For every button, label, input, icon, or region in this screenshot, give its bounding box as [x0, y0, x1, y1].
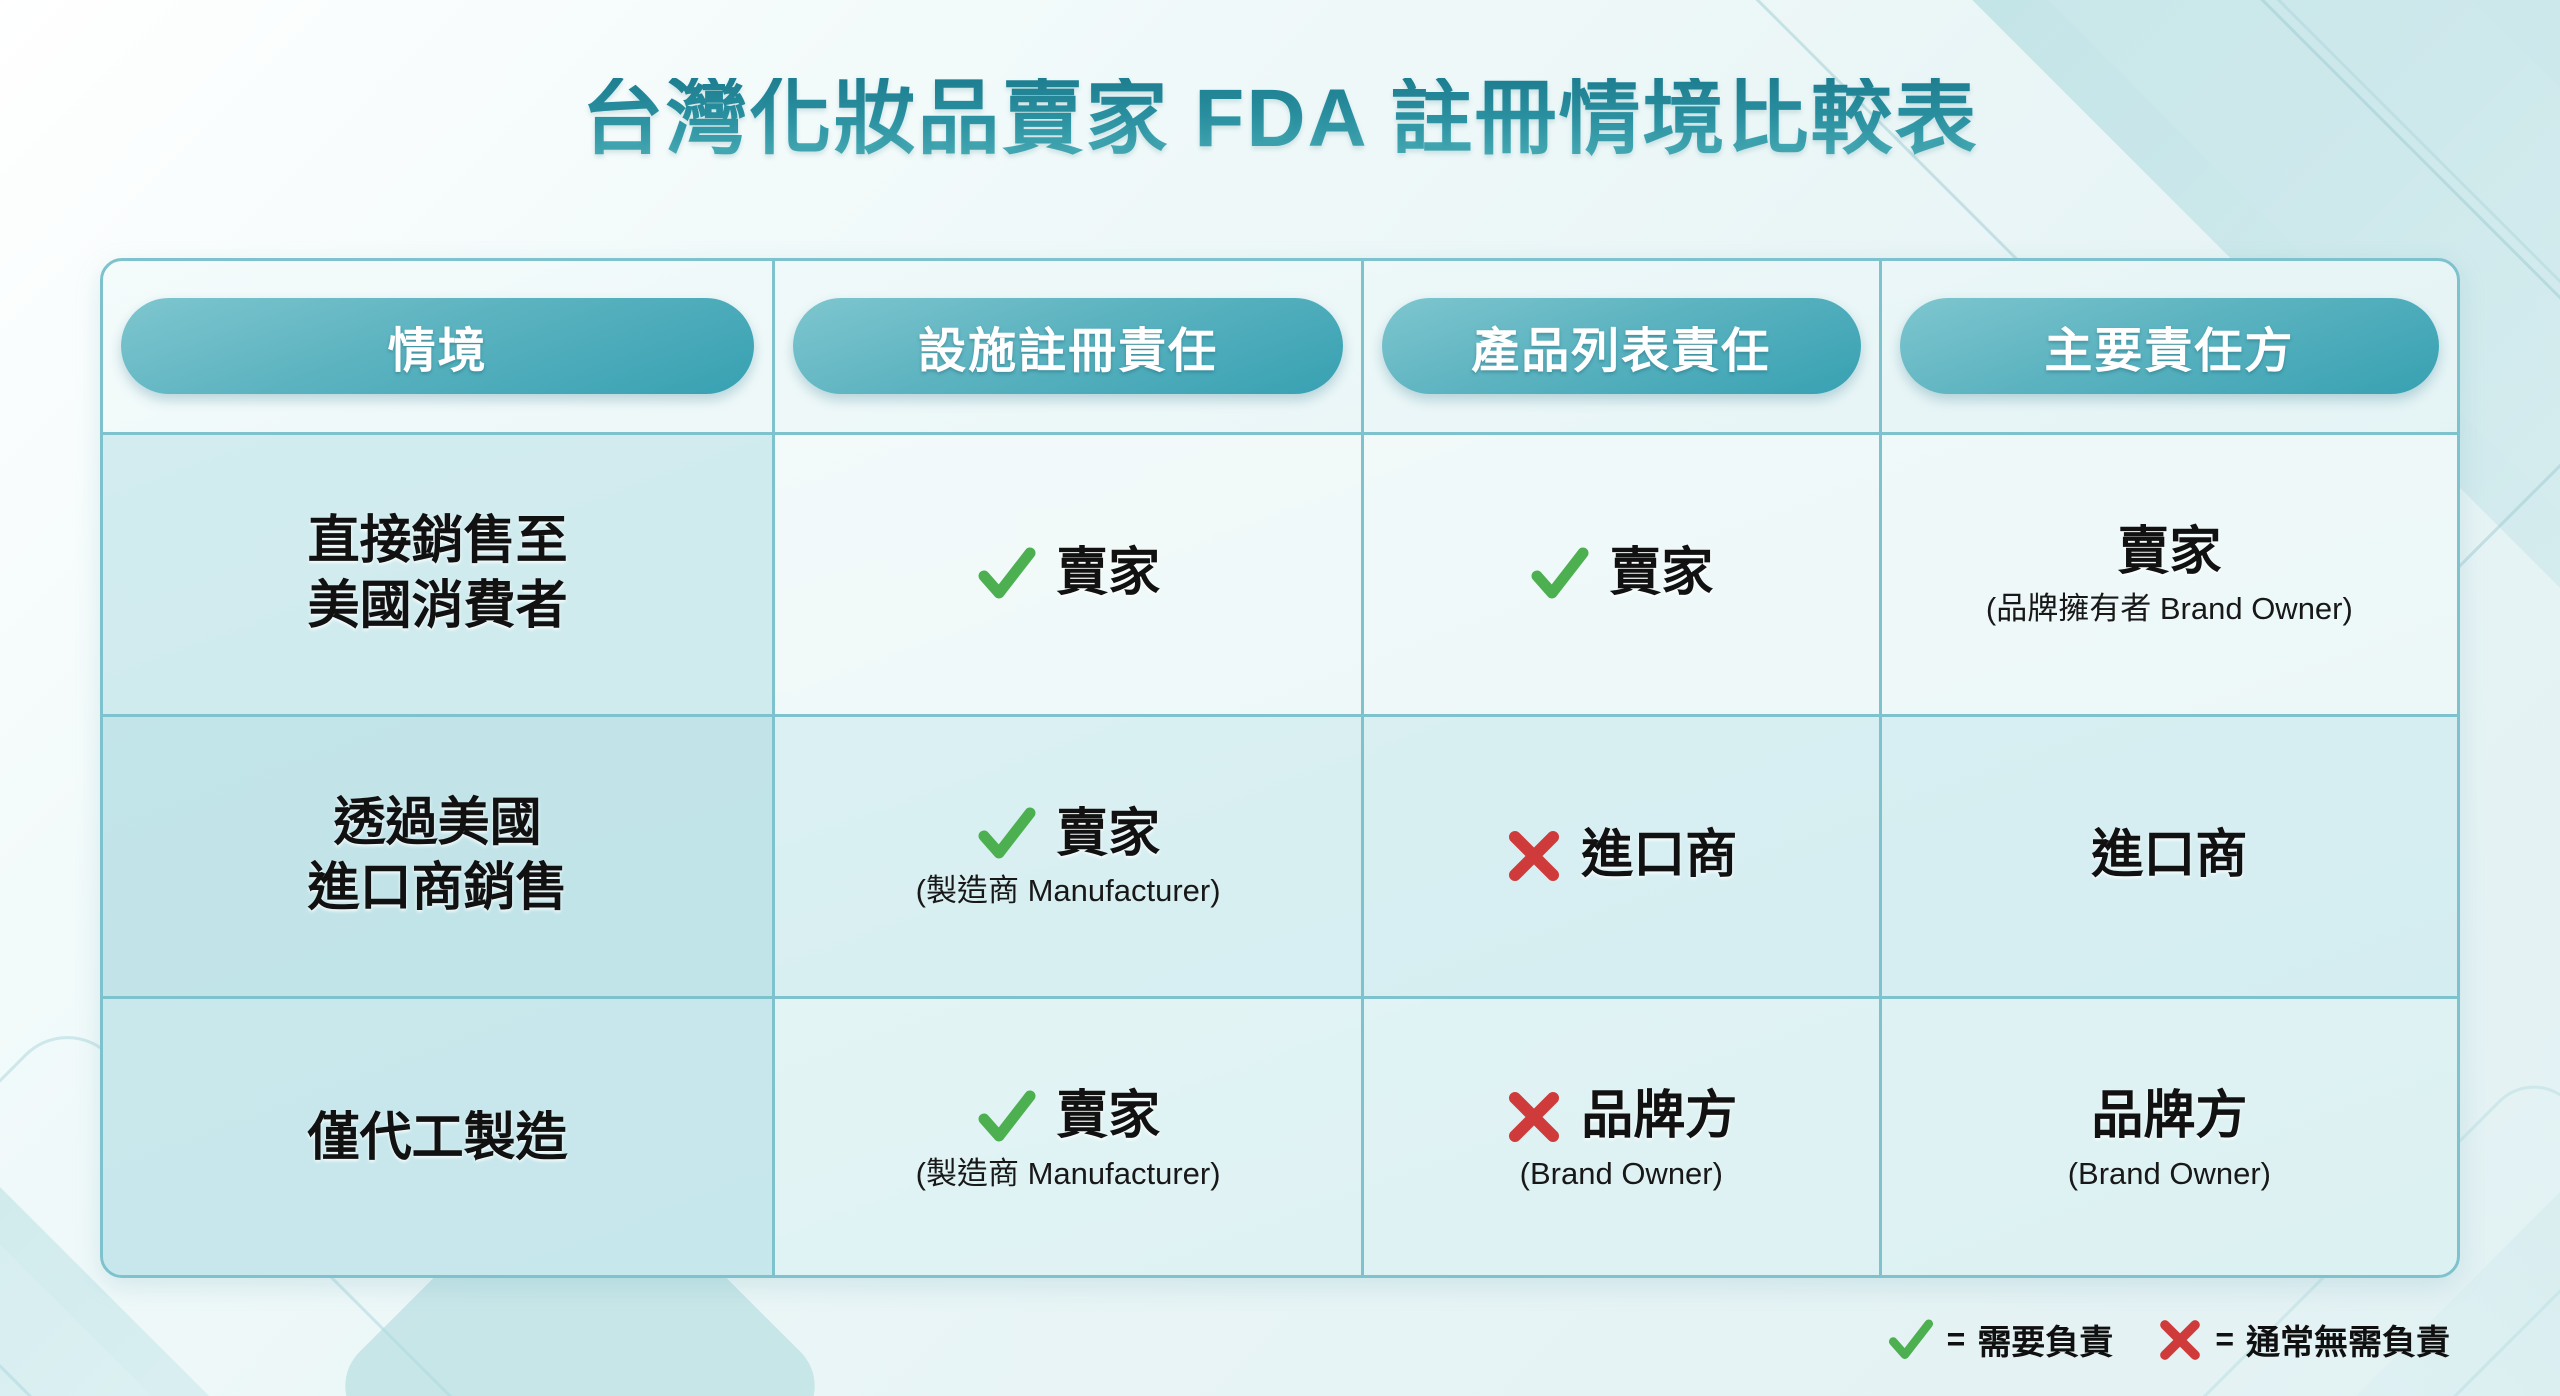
cell-listing-3: 品牌方 (Brand Owner): [1362, 997, 1880, 1278]
check-icon: [976, 543, 1038, 605]
legend-label-check: 需要負責: [1977, 1315, 2113, 1364]
header-pill-facility-registration: 設施註冊責任: [793, 298, 1343, 394]
listing-value-3: 品牌方: [1581, 1085, 1737, 1148]
facility-subtext-2: (製造商 Manufacturer): [791, 872, 1345, 909]
scenario-text-3: 僅代工製造: [119, 1107, 756, 1170]
scenario-line-2b: 進口商銷售: [119, 856, 756, 921]
table-row: 透過美國 進口商銷售 賣家 (: [103, 715, 2457, 997]
legend-equals-check: =: [1947, 1321, 1966, 1358]
cell-listing-2: 進口商: [1362, 715, 1880, 997]
cell-facility-3: 賣家 (製造商 Manufacturer): [774, 997, 1363, 1278]
legend: = 需要負責 = 通常無需負責: [1887, 1315, 2450, 1364]
listing-value-1: 賣家: [1609, 542, 1713, 605]
facility-mark-line-2: 賣家: [791, 803, 1345, 866]
cell-scenario-3: 僅代工製造: [103, 997, 774, 1278]
header-pill-scenario: 情境: [121, 298, 754, 394]
cross-icon: [1505, 827, 1563, 885]
scenario-line-2a: 透過美國: [119, 791, 756, 856]
listing-subtext-3: (Brand Owner): [1380, 1155, 1863, 1192]
facility-value-2: 賣家: [1056, 803, 1160, 866]
column-header-scenario: 情境: [103, 261, 774, 433]
listing-mark-line-3: 品牌方: [1380, 1085, 1863, 1148]
page-title: 台灣化妝品賣家 FDA 註冊情境比較表: [0, 78, 2560, 160]
party-subtext-3: (Brand Owner): [1898, 1155, 2441, 1192]
cell-facility-2: 賣家 (製造商 Manufacturer): [774, 715, 1363, 997]
listing-value-2: 進口商: [1581, 824, 1737, 887]
scenario-line-1b: 美國消費者: [119, 574, 756, 639]
header-pill-primary-responsible-party: 主要責任方: [1900, 298, 2439, 394]
party-value-1: 賣家: [1898, 521, 2441, 584]
facility-subtext-3: (製造商 Manufacturer): [791, 1155, 1345, 1192]
party-value-3: 品牌方: [1898, 1085, 2441, 1148]
facility-mark-line-3: 賣家: [791, 1085, 1345, 1148]
cell-scenario-1: 直接銷售至 美國消費者: [103, 433, 774, 715]
party-value-2: 進口商: [1898, 824, 2441, 887]
header-pill-product-listing: 產品列表責任: [1382, 298, 1861, 394]
cell-party-2: 進口商: [1880, 715, 2457, 997]
scenario-text-1: 直接銷售至 美國消費者: [119, 509, 756, 639]
table-row: 直接銷售至 美國消費者 賣家: [103, 433, 2457, 715]
table-header: 情境 設施註冊責任 產品列表責任 主要責任方: [103, 261, 2457, 433]
cross-icon: [2157, 1317, 2203, 1363]
cell-facility-1: 賣家: [774, 433, 1363, 715]
check-icon: [1887, 1316, 1935, 1364]
facility-mark-line-1: 賣家: [791, 542, 1345, 605]
check-icon: [976, 803, 1038, 865]
cell-party-3: 品牌方 (Brand Owner): [1880, 997, 2457, 1278]
legend-equals-cross: =: [2215, 1321, 2234, 1358]
cell-listing-1: 賣家: [1362, 433, 1880, 715]
check-icon: [1529, 543, 1591, 605]
cross-icon: [1505, 1088, 1563, 1146]
table-header-row: 情境 設施註冊責任 產品列表責任 主要責任方: [103, 261, 2457, 433]
facility-value-3: 賣家: [1056, 1085, 1160, 1148]
listing-mark-line-1: 賣家: [1380, 542, 1863, 605]
comparison-table: 情境 設施註冊責任 產品列表責任 主要責任方: [103, 261, 2457, 1278]
check-icon: [976, 1086, 1038, 1148]
party-subtext-1: (品牌擁有者 Brand Owner): [1898, 590, 2441, 627]
scenario-text-2: 透過美國 進口商銷售: [119, 791, 756, 921]
infographic-page: 台灣化妝品賣家 FDA 註冊情境比較表 情境 設施註冊責任 產品列表責任: [0, 0, 2560, 1396]
legend-item-cross: = 通常無需負責: [2157, 1315, 2450, 1364]
cell-scenario-2: 透過美國 進口商銷售: [103, 715, 774, 997]
comparison-table-container: 情境 設施註冊責任 產品列表責任 主要責任方: [100, 258, 2460, 1278]
table-row: 僅代工製造 賣家 (製造商 Manufacturer): [103, 997, 2457, 1278]
scenario-line-1a: 直接銷售至: [119, 509, 756, 574]
facility-value-1: 賣家: [1056, 542, 1160, 605]
column-header-primary-responsible-party: 主要責任方: [1880, 261, 2457, 433]
column-header-facility-registration: 設施註冊責任: [774, 261, 1363, 433]
column-header-product-listing: 產品列表責任: [1362, 261, 1880, 433]
legend-item-check: = 需要負責: [1887, 1315, 2114, 1364]
legend-label-cross: 通常無需負責: [2246, 1315, 2450, 1364]
table-body: 直接銷售至 美國消費者 賣家: [103, 433, 2457, 1278]
cell-party-1: 賣家 (品牌擁有者 Brand Owner): [1880, 433, 2457, 715]
listing-mark-line-2: 進口商: [1380, 824, 1863, 887]
